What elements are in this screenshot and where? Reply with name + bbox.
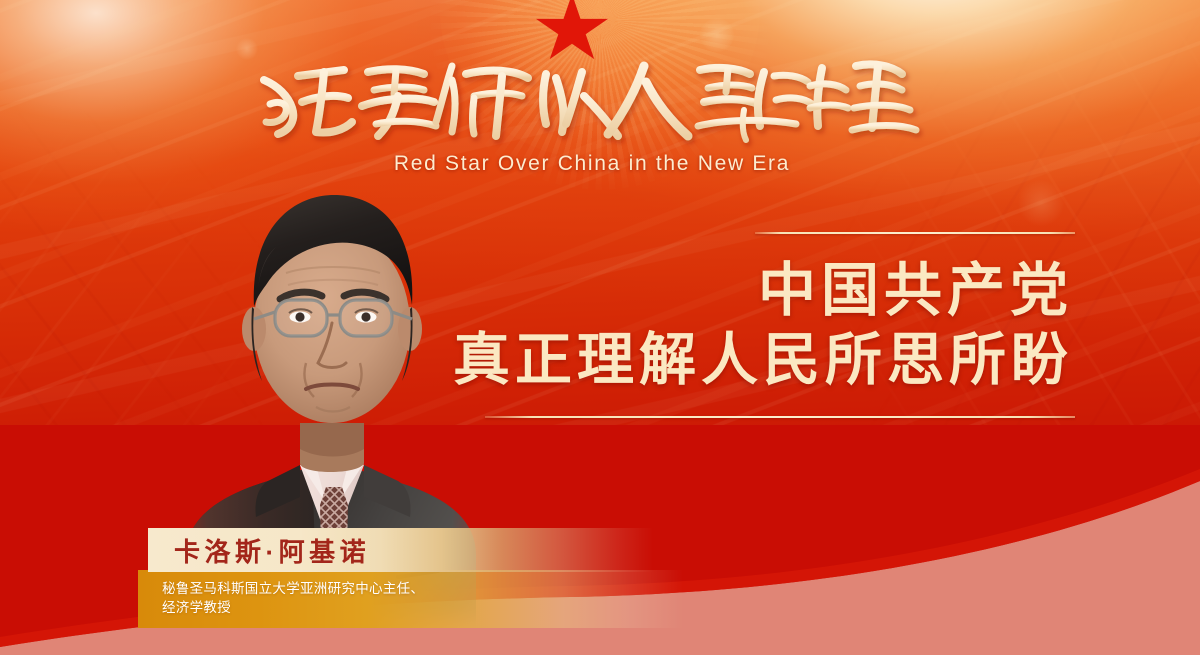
headline-line-1: 中国共产党 <box>453 256 1075 326</box>
headline-divider-bottom <box>485 416 1075 418</box>
title-block: Red Star Over China in the New Era <box>252 46 932 176</box>
speaker-name-bar: 卡洛斯·阿基诺 <box>148 528 653 572</box>
headline-divider-top <box>755 232 1075 234</box>
speaker-credential-line-2: 经济学教授 <box>162 598 683 617</box>
bokeh-light-c <box>1018 180 1064 226</box>
speaker-credential-bar: 秘鲁圣马科斯国立大学亚洲研究中心主任、 经济学教授 <box>138 570 683 628</box>
speaker-name: 卡洛斯·阿基诺 <box>148 532 370 569</box>
poster-root: Red Star Over China in the New Era 中国共产党… <box>0 0 1200 655</box>
headline-block: 中国共产党 真正理解人民所思所盼 <box>453 232 1075 418</box>
calligraphy-title <box>252 46 932 150</box>
speaker-credential-line-1: 秘鲁圣马科斯国立大学亚洲研究中心主任、 <box>162 579 683 598</box>
headline-line-2: 真正理解人民所思所盼 <box>453 326 1075 396</box>
subtitle-english: Red Star Over China in the New Era <box>252 152 932 176</box>
